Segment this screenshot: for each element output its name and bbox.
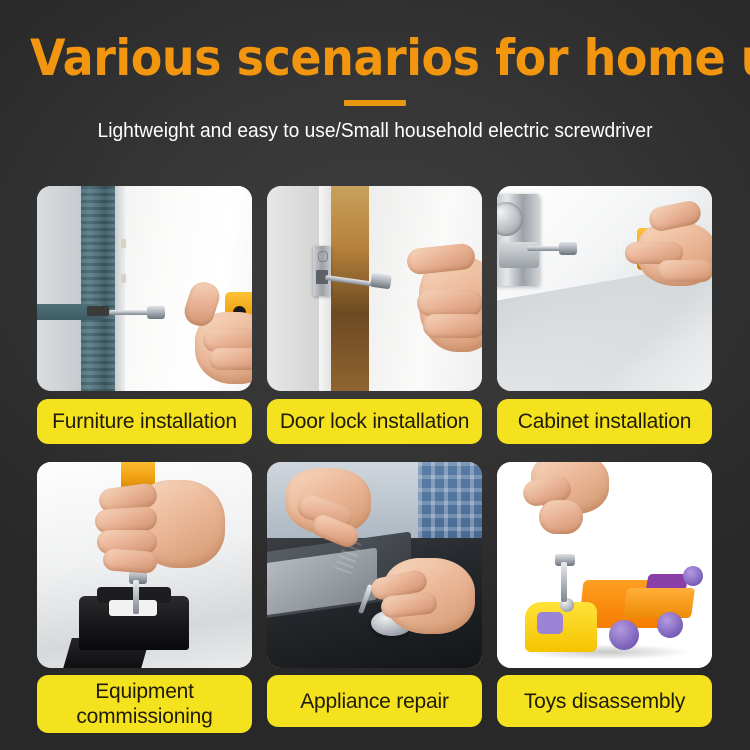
divider: [344, 100, 406, 106]
scenario-photo-toys-disassembly: [497, 462, 712, 668]
scenario-grid: Furniture installation: [37, 186, 713, 733]
scenario-card-furniture-installation[interactable]: Furniture installation: [37, 186, 252, 444]
scenario-card-toys-disassembly[interactable]: Toys disassembly: [497, 462, 712, 733]
scenario-photo-appliance-repair: [267, 462, 482, 668]
scenario-photo-equipment-commissioning: [37, 462, 252, 668]
scenario-photo-furniture-installation: [37, 186, 252, 391]
scenario-label: Door lock installation: [267, 399, 482, 444]
header: Various scenarios for home use Lightweig…: [0, 0, 750, 172]
subtitle: Lightweight and easy to use/Small househ…: [15, 118, 735, 144]
scenario-photo-cabinet-installation: [497, 186, 712, 391]
scenario-label: Cabinet installation: [497, 399, 712, 444]
scenario-label: Equipment commissioning: [37, 675, 252, 733]
scenario-card-door-lock-installation[interactable]: Door lock installation: [267, 186, 482, 444]
scenario-label: Furniture installation: [37, 399, 252, 444]
scenario-card-equipment-commissioning[interactable]: Equipment commissioning: [37, 462, 252, 733]
scenario-label: Toys disassembly: [497, 675, 712, 727]
scenario-photo-door-lock-installation: [267, 186, 482, 391]
page-title: Various scenarios for home use: [30, 29, 720, 87]
promo-banner: Various scenarios for home use Lightweig…: [0, 0, 750, 750]
scenario-card-cabinet-installation[interactable]: Cabinet installation: [497, 186, 712, 444]
scenario-card-appliance-repair[interactable]: Appliance repair: [267, 462, 482, 733]
scenario-label: Appliance repair: [267, 675, 482, 727]
